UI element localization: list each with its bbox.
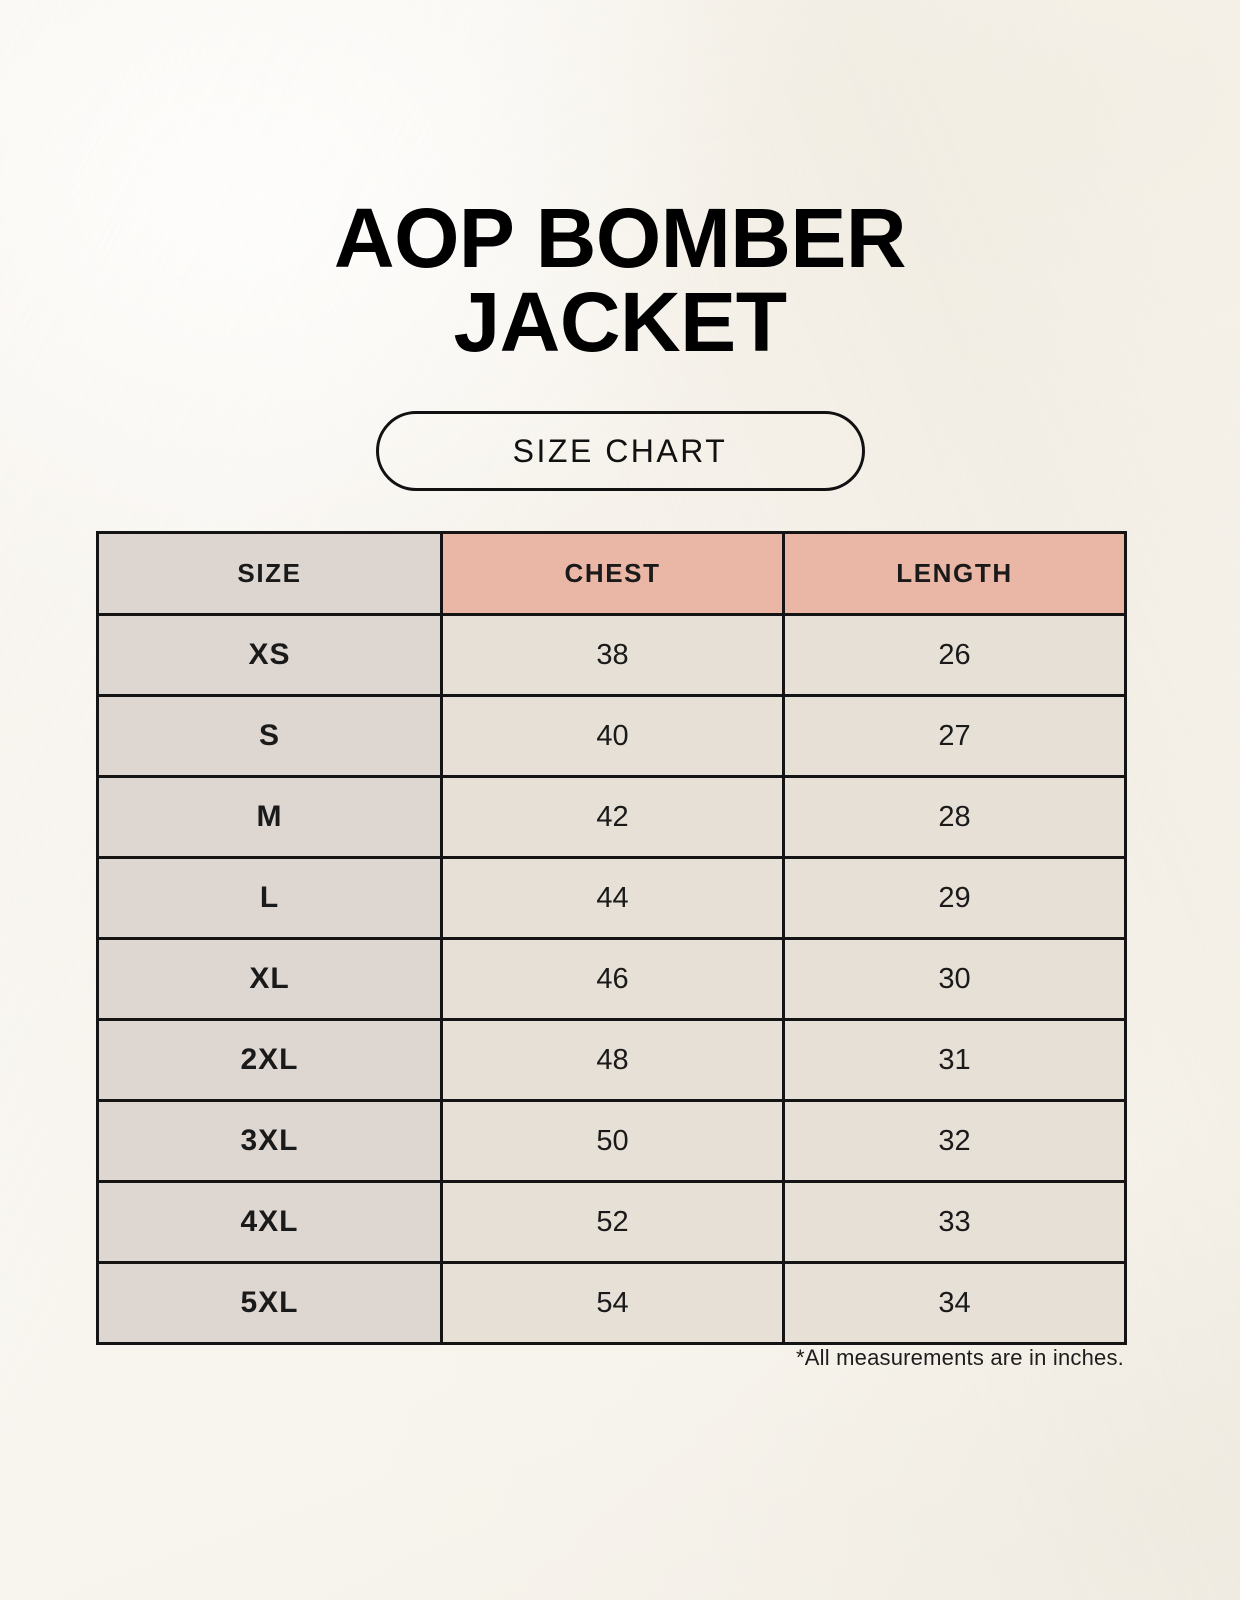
table-row: 2XL 48 31 [98,1020,1126,1101]
table-row: L 44 29 [98,858,1126,939]
cell-length: 33 [784,1182,1126,1263]
cell-chest: 52 [442,1182,784,1263]
table-row: S 40 27 [98,696,1126,777]
table-row: 4XL 52 33 [98,1182,1126,1263]
cell-size: M [98,777,442,858]
cell-length: 32 [784,1101,1126,1182]
cell-chest: 44 [442,858,784,939]
size-table: SIZE CHEST LENGTH XS 38 26 S 40 27 M [96,531,1127,1345]
cell-chest: 48 [442,1020,784,1101]
column-header-length: LENGTH [784,533,1126,615]
size-table-body: XS 38 26 S 40 27 M 42 28 L 44 29 [98,615,1126,1344]
cell-chest: 42 [442,777,784,858]
size-table-container: SIZE CHEST LENGTH XS 38 26 S 40 27 M [96,531,1124,1345]
cell-length: 28 [784,777,1126,858]
page-title-container: AOP BOMBER JACKET [0,196,1240,364]
cell-chest: 38 [442,615,784,696]
column-header-chest: CHEST [442,533,784,615]
cell-size: XS [98,615,442,696]
cell-size: S [98,696,442,777]
cell-size: XL [98,939,442,1020]
size-chart-badge: SIZE CHART [376,411,865,491]
cell-length: 34 [784,1263,1126,1344]
cell-length: 31 [784,1020,1126,1101]
table-row: XS 38 26 [98,615,1126,696]
page-title: AOP BOMBER JACKET [270,196,970,364]
cell-chest: 40 [442,696,784,777]
cell-size: 3XL [98,1101,442,1182]
column-header-size: SIZE [98,533,442,615]
cell-chest: 54 [442,1263,784,1344]
cell-size: 2XL [98,1020,442,1101]
cell-chest: 50 [442,1101,784,1182]
cell-chest: 46 [442,939,784,1020]
table-row: XL 46 30 [98,939,1126,1020]
measurements-footnote: *All measurements are in inches. [96,1345,1124,1371]
cell-length: 29 [784,858,1126,939]
cell-length: 26 [784,615,1126,696]
table-row: M 42 28 [98,777,1126,858]
cell-size: 4XL [98,1182,442,1263]
size-chart-page: AOP BOMBER JACKET SIZE CHART SIZE CHEST … [0,0,1240,1600]
cell-size: L [98,858,442,939]
size-chart-badge-label: SIZE CHART [513,433,728,470]
table-row: 3XL 50 32 [98,1101,1126,1182]
size-table-head: SIZE CHEST LENGTH [98,533,1126,615]
table-row: 5XL 54 34 [98,1263,1126,1344]
table-header-row: SIZE CHEST LENGTH [98,533,1126,615]
cell-length: 30 [784,939,1126,1020]
cell-size: 5XL [98,1263,442,1344]
size-chart-badge-container: SIZE CHART [0,411,1240,491]
cell-length: 27 [784,696,1126,777]
